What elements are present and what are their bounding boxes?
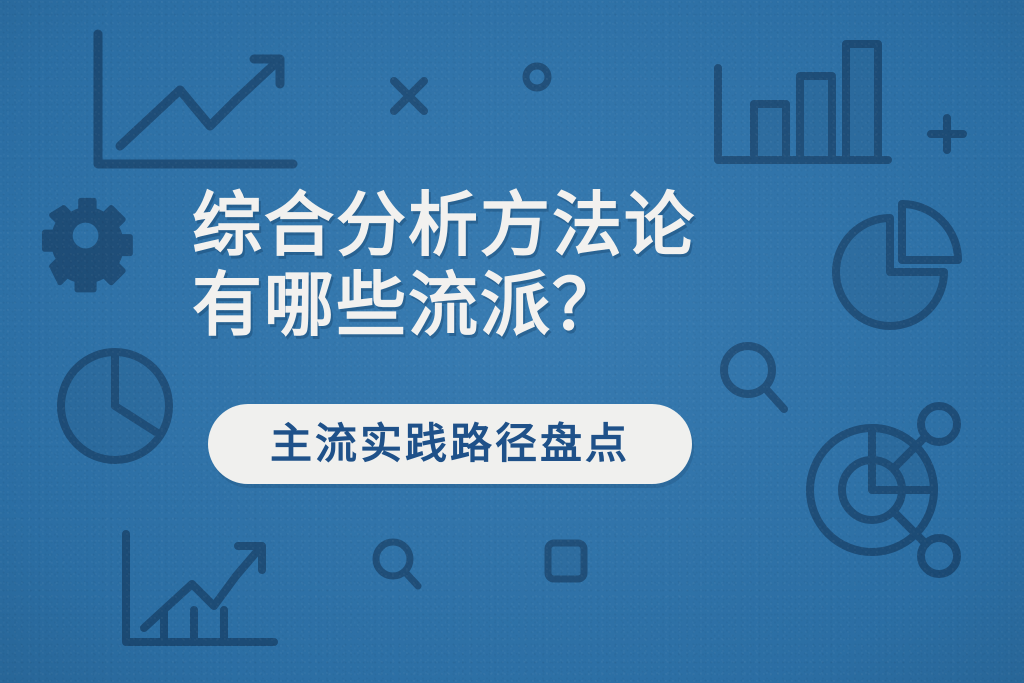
pie-chart-exploded-icon <box>828 196 964 332</box>
plus-icon <box>925 112 969 156</box>
subtitle-pill-label: 主流实践路径盘点 <box>270 423 630 465</box>
poster-title: 综合分析方法论 有哪些流派？ <box>192 186 812 346</box>
line-chart-bars-icon <box>118 528 282 654</box>
poster-canvas: 综合分析方法论 有哪些流派？ 主流实践路径盘点 <box>0 0 1024 683</box>
pie-chart-split-icon <box>55 346 175 466</box>
subtitle-pill: 主流实践路径盘点 <box>208 404 692 484</box>
line-chart-arrow-icon <box>88 28 298 176</box>
title-line-2: 有哪些流派？ <box>192 266 812 346</box>
search-magnifier-icon <box>718 340 792 416</box>
bar-chart-icon <box>712 36 894 168</box>
search-magnifier-small-icon <box>372 538 424 592</box>
network-node-icon <box>800 400 980 580</box>
gear-icon <box>42 196 128 282</box>
circle-outline-icon <box>521 61 553 93</box>
close-x-icon <box>388 75 430 117</box>
title-line-1: 综合分析方法论 <box>192 186 812 266</box>
rounded-square-icon <box>543 538 589 584</box>
